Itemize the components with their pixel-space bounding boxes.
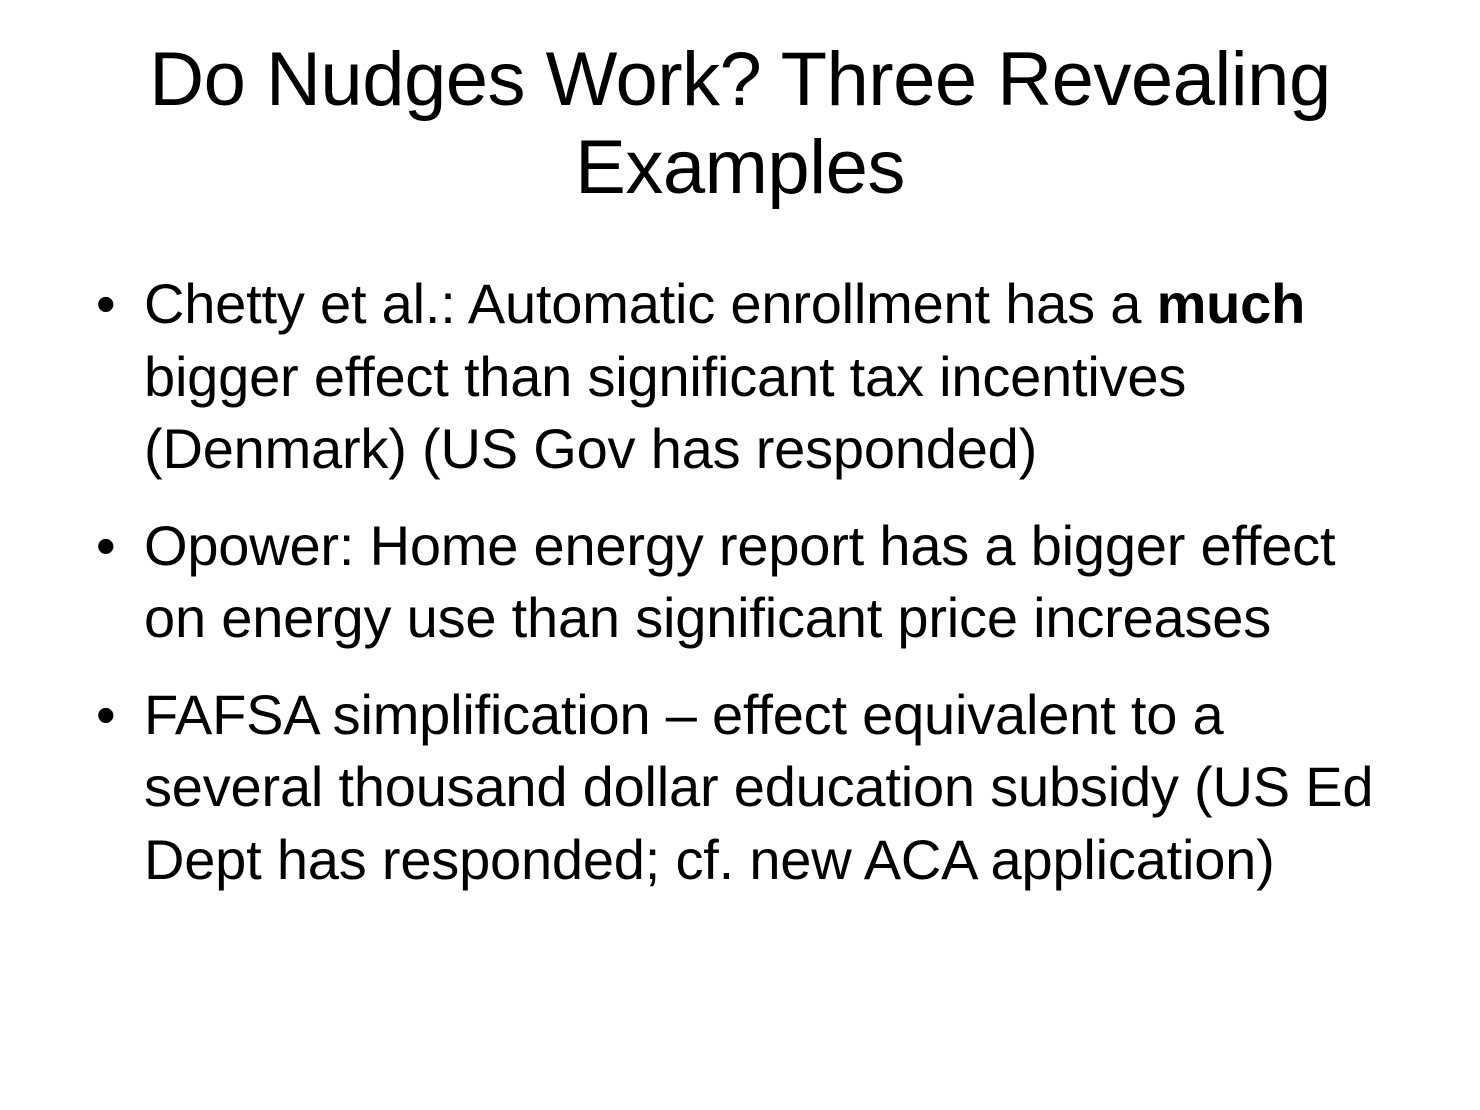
bullet-point-icon: • bbox=[96, 268, 126, 341]
bullet-text-segment-trailing: bigger effect than significant tax incen… bbox=[144, 345, 1186, 481]
bullet-item-chetty: • Chetty et al.: Automatic enrollment ha… bbox=[78, 268, 1408, 486]
bullet-text-emphasis: much bbox=[1157, 272, 1306, 335]
bullet-item-text: FAFSA simplification – effect equivalent… bbox=[144, 679, 1408, 897]
presentation-slide: Do Nudges Work? Three Revealing Examples… bbox=[0, 0, 1480, 1110]
bullet-point-icon: • bbox=[96, 510, 126, 583]
bullet-item-text: Chetty et al.: Automatic enrollment has … bbox=[144, 268, 1408, 486]
bullet-item-opower: • Opower: Home energy report has a bigge… bbox=[78, 510, 1408, 655]
bullet-text-segment-leading: Chetty et al.: Automatic enrollment has … bbox=[144, 272, 1157, 335]
bullet-item-text: Opower: Home energy report has a bigger … bbox=[144, 510, 1408, 655]
slide-title-line-1: Do Nudges Work? Three Revealing bbox=[149, 37, 1330, 122]
bullet-point-icon: • bbox=[96, 679, 126, 752]
slide-title-line-2: Examples bbox=[575, 125, 905, 210]
slide-title: Do Nudges Work? Three Revealing Examples bbox=[75, 36, 1405, 212]
bullet-item-fafsa: • FAFSA simplification – effect equivale… bbox=[78, 679, 1408, 897]
slide-body-bullet-list: • Chetty et al.: Automatic enrollment ha… bbox=[78, 268, 1408, 896]
